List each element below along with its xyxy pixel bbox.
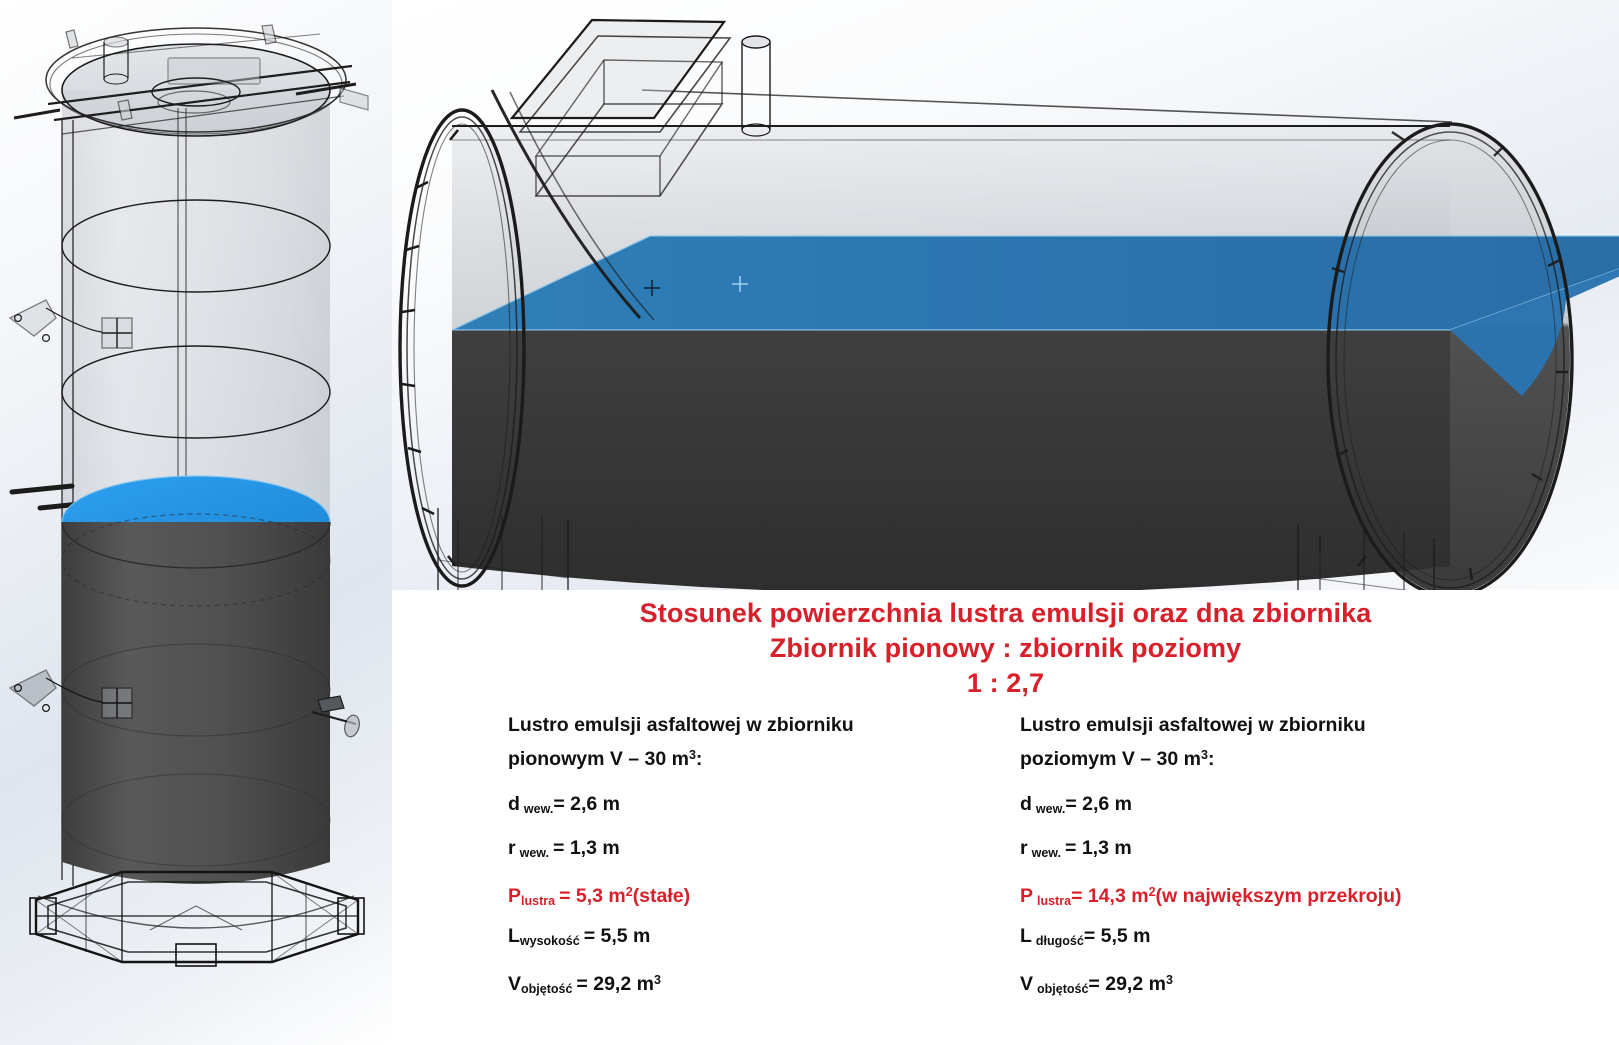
spec-row-l: Lwysokość= 5,5 m — [508, 924, 978, 968]
spec-symbol: L — [1020, 925, 1032, 947]
spec-column-vertical: Lustro emulsji asfaltowej w zbiorniku pi… — [508, 710, 978, 1030]
spec-note: (w największym przekroju) — [1156, 885, 1402, 907]
spec-value: = 1,3 m — [1065, 837, 1132, 859]
spec-symbol: r — [508, 837, 516, 859]
spec-note: (stałe) — [633, 885, 690, 907]
spec-value: = 2,6 m — [1065, 793, 1132, 815]
spec-symbol: d — [1020, 793, 1032, 815]
spec-row-l: Ldługość= 5,5 m — [1020, 924, 1490, 968]
spec-exponent: 3 — [1166, 973, 1173, 987]
slide-canvas: Stosunek powierzchnia lustra emulsji ora… — [0, 0, 1619, 1045]
spec-subscript: wew. — [524, 802, 553, 816]
spec-value: = 5,3 m — [559, 885, 626, 907]
spec-exponent: 2 — [626, 885, 633, 899]
spec-columns: Lustro emulsji asfaltowej w zbiorniku pi… — [392, 710, 1619, 1030]
spec-row-r: rwew.= 1,3 m — [1020, 836, 1490, 880]
spec-heading-line2: poziomym V – 30 m — [1020, 748, 1201, 770]
horizontal-tank-liquid-surface — [452, 236, 1619, 330]
spec-subscript: wew. — [1032, 846, 1061, 860]
spec-subscript: lustra — [1037, 894, 1071, 908]
spec-exponent: 2 — [1149, 885, 1156, 899]
spec-row-d: dwew.= 2,6 m — [508, 792, 978, 836]
spec-symbol: r — [1020, 837, 1028, 859]
spec-row-r: rwew.= 1,3 m — [508, 836, 978, 880]
title-line-2: Zbiornik pionowy : zbiornik poziomy — [392, 631, 1619, 666]
spec-row-d: dwew.= 2,6 m — [1020, 792, 1490, 836]
spec-subscript: wew. — [1036, 802, 1065, 816]
spec-heading-exponent: 3 — [1201, 748, 1208, 762]
spec-symbol: V — [1020, 973, 1033, 995]
spec-subscript: długość — [1036, 934, 1084, 948]
spec-heading-line1: Lustro emulsji asfaltowej w zbiorniku — [1020, 714, 1366, 736]
spec-subscript: wysokość — [520, 934, 580, 948]
vertical-tank-base-frame — [30, 872, 364, 966]
title-line-1: Stosunek powierzchnia lustra emulsji ora… — [392, 596, 1619, 631]
spec-column-horizontal: Lustro emulsji asfaltowej w zbiorniku po… — [1020, 710, 1490, 1030]
horizontal-tank-body — [452, 330, 1450, 594]
spec-value: = 29,2 m — [1088, 973, 1166, 995]
spec-heading-exponent: 3 — [689, 748, 696, 762]
spec-row-p-lustra: Plustra= 5,3 m2(stałe) — [508, 880, 978, 924]
spec-symbol: P — [508, 885, 521, 907]
spec-heading: Lustro emulsji asfaltowej w zbiorniku pi… — [508, 710, 938, 774]
spec-row-v: Vobjętość= 29,2 m3 — [1020, 968, 1490, 1012]
spec-heading-colon: : — [696, 748, 703, 770]
spec-heading: Lustro emulsji asfaltowej w zbiorniku po… — [1020, 710, 1450, 774]
spec-subscript: objętość — [1037, 982, 1088, 996]
spec-exponent: 3 — [654, 973, 661, 987]
spec-value: = 14,3 m — [1071, 885, 1149, 907]
spec-row-v: Vobjętość= 29,2 m3 — [508, 968, 978, 1012]
spec-value: = 29,2 m — [576, 973, 654, 995]
title-block: Stosunek powierzchnia lustra emulsji ora… — [392, 596, 1619, 701]
spec-symbol: V — [508, 973, 521, 995]
spec-value: = 5,5 m — [584, 925, 651, 947]
spec-row-p-lustra: Plustra= 14,3 m2(w największym przekroju… — [1020, 880, 1490, 924]
spec-symbol: P — [1020, 885, 1033, 907]
spec-value: = 5,5 m — [1084, 925, 1151, 947]
spec-subscript: wew. — [520, 846, 549, 860]
spec-symbol: d — [508, 793, 520, 815]
spec-heading-colon: : — [1208, 748, 1215, 770]
spec-heading-line2: pionowym V – 30 m — [508, 748, 689, 770]
vertical-tank-model — [0, 0, 392, 1045]
spec-heading-line1: Lustro emulsji asfaltowej w zbiorniku — [508, 714, 854, 736]
spec-value: = 2,6 m — [553, 793, 620, 815]
spec-value: = 1,3 m — [553, 837, 620, 859]
spec-subscript: lustra — [521, 894, 555, 908]
spec-subscript: objętość — [521, 982, 572, 996]
spec-symbol: L — [508, 925, 520, 947]
vertical-tank-body — [10, 514, 361, 884]
title-ratio: 1 : 2,7 — [392, 666, 1619, 701]
